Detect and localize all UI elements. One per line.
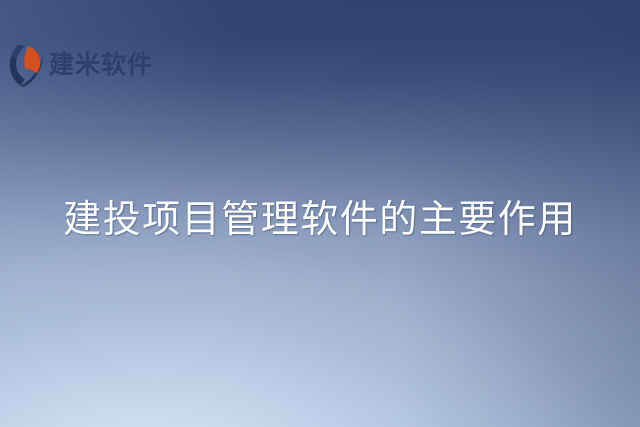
- page-title: 建投项目管理软件的主要作用: [0, 197, 640, 243]
- jianmi-swoosh-flame-logo-icon: [9, 43, 44, 87]
- brand-name-label: 建米软件: [49, 53, 153, 78]
- banner-canvas: 建米软件 建投项目管理软件的主要作用: [0, 0, 640, 427]
- brand-logo[interactable]: 建米软件: [9, 42, 153, 88]
